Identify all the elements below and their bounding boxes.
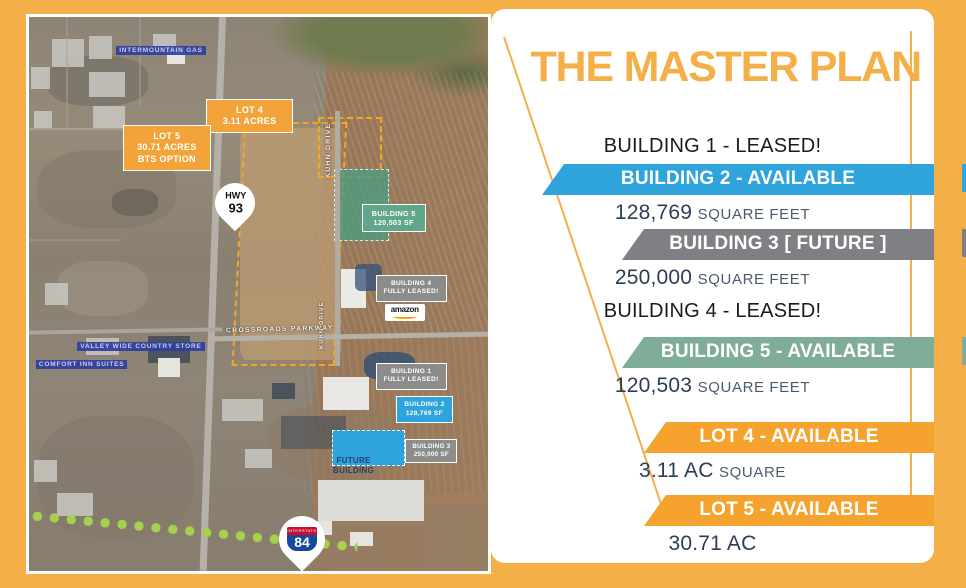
existing-building <box>34 111 52 128</box>
lot-4-number: 3.11 AC <box>639 459 714 482</box>
existing-building <box>272 383 295 400</box>
map-callout-building-5[interactable]: BUILDING 5 120,503 SF <box>362 204 426 232</box>
building-2-unit: SQUARE FEET <box>698 206 810 223</box>
building-3-size: 250,000 SQUARE FEET <box>491 260 934 294</box>
map-callout-building-2[interactable]: BUILDING 2 128,769 SF <box>396 396 452 422</box>
kuhn-drive-road <box>335 111 340 366</box>
lot-4-callout-line1: LOT 4 <box>223 105 277 116</box>
building-1-footprint[interactable] <box>323 377 369 410</box>
list-item-building-3[interactable]: BUILDING 3 [ FUTURE ] 250,000 SQUARE FEE… <box>491 229 934 294</box>
label-kuhn-drive-south: KUHN DRIVE <box>319 302 325 350</box>
pin-content: HWY 93 <box>224 192 245 215</box>
lot-5-size: 30.71 AC <box>491 526 934 560</box>
spacer <box>491 329 934 337</box>
building-2-size: 128,769 SQUARE FEET <box>491 195 934 229</box>
spacer <box>491 402 934 422</box>
label-kuhn-drive: KUHN DRIVE <box>325 122 332 177</box>
side-road <box>139 17 141 106</box>
lot-5-callout-line3: BTS OPTION <box>137 154 197 165</box>
existing-building <box>34 460 57 482</box>
existing-building <box>89 72 126 97</box>
aerial-site-map[interactable]: INTERMOUNTAIN GAS VALLEY WIDE COUNTRY ST… <box>26 14 491 574</box>
building-1-callout-line1: BUILDING 1 <box>384 368 439 376</box>
page-title: THE MASTER PLAN <box>521 43 921 92</box>
lot-5-status-bar[interactable]: LOT 5 - AVAILABLE <box>644 495 934 526</box>
building-1-label: BUILDING 1 - LEASED! <box>491 129 934 164</box>
building-5-callout-line1: BUILDING 5 <box>372 209 416 218</box>
availability-list: BUILDING 1 - LEASED! BUILDING 2 - AVAILA… <box>491 129 934 560</box>
master-plan-panel: THE MASTER PLAN BUILDING 1 - LEASED! BUI… <box>491 9 934 563</box>
map-callout-building-4[interactable]: BUILDING 4 FULLY LEASED! <box>376 275 447 301</box>
pin-content: INTERSTATE 84 <box>285 525 319 553</box>
list-item-building-2[interactable]: BUILDING 2 - AVAILABLE 128,769 SQUARE FE… <box>491 164 934 229</box>
building-5-unit: SQUARE FEET <box>698 379 810 396</box>
edge-accent-block <box>962 337 966 365</box>
edge-accent-block <box>962 229 966 257</box>
building-2-number: 128,769 <box>615 201 692 224</box>
map-callout-lot-5[interactable]: LOT 5 30.71 ACRES BTS OPTION <box>123 125 211 171</box>
interstate-shield-icon: INTERSTATE 84 <box>285 525 319 553</box>
terrain-patch <box>57 261 149 316</box>
lot-5-number: 30.71 AC <box>669 532 757 555</box>
list-item-building-5[interactable]: BUILDING 5 - AVAILABLE 120,503 SQUARE FE… <box>491 337 934 402</box>
building-3-unit: SQUARE FEET <box>698 271 810 288</box>
spacer <box>491 487 934 495</box>
building-1-callout-line2: FULLY LEASED! <box>384 376 439 384</box>
existing-building <box>89 36 112 58</box>
building-5-size: 120,503 SQUARE FEET <box>491 368 934 402</box>
edge-accent-block <box>962 369 966 417</box>
amazon-logo: amazon <box>385 304 425 321</box>
building-5-callout-line2: 120,503 SF <box>372 218 416 227</box>
interstate-number: 84 <box>294 535 310 551</box>
building-3-number: 250,000 <box>615 266 692 289</box>
lot-4-size: 3.11 AC SQUARE <box>491 453 934 487</box>
label-valley-wide-country-store: VALLEY WIDE COUNTRY STORE <box>77 342 204 351</box>
map-callout-building-3[interactable]: BUILDING 3 250,000 SF <box>405 439 457 463</box>
edge-accent-block <box>962 196 966 230</box>
hwy-label: HWY <box>224 192 245 201</box>
edge-accent-block <box>962 164 966 192</box>
edge-accent-block <box>962 261 966 331</box>
building-3-callout-line2: 250,000 SF <box>412 451 450 459</box>
edge-accent-block <box>962 454 966 490</box>
existing-building <box>245 449 273 468</box>
future-building-line1: FUTURE <box>333 456 374 466</box>
building-4-callout-line1: BUILDING 4 <box>384 280 439 288</box>
edge-accent-block <box>962 422 966 450</box>
building-3-status-bar[interactable]: BUILDING 3 [ FUTURE ] <box>622 229 934 260</box>
list-item-building-4[interactable]: BUILDING 4 - LEASED! <box>491 294 934 329</box>
building-3-callout-line1: BUILDING 3 <box>412 443 450 451</box>
existing-building <box>222 399 263 421</box>
building-2-callout-line1: BUILDING 2 <box>404 401 444 409</box>
lot-5-callout-line1: LOT 5 <box>137 131 197 142</box>
lot-4-unit: SQUARE <box>719 464 786 481</box>
list-item-building-1[interactable]: BUILDING 1 - LEASED! <box>491 129 934 164</box>
existing-building <box>158 358 181 377</box>
lot-5-callout-line2: 30.71 ACRES <box>137 142 197 153</box>
side-road <box>66 17 68 128</box>
list-item-lot-4[interactable]: LOT 4 - AVAILABLE 3.11 AC SQUARE <box>491 422 934 487</box>
lot-4-callout-line2: 3.11 ACRES <box>223 116 277 127</box>
building-4-callout-line2: FULLY LEASED! <box>384 288 439 296</box>
map-callout-lot-4[interactable]: LOT 4 3.11 ACRES <box>206 99 294 134</box>
future-building-line2: BUILDING <box>333 466 374 476</box>
side-road <box>29 239 121 241</box>
building-5-number: 120,503 <box>615 374 692 397</box>
edge-accent-block <box>962 495 966 523</box>
edge-accent-block <box>962 527 966 571</box>
existing-building <box>31 67 49 89</box>
building-3-footprint[interactable] <box>318 480 424 522</box>
label-comfort-inn-suites: COMFORT INN SUITES <box>36 360 128 369</box>
existing-building <box>45 283 68 305</box>
label-intermountain-gas: INTERMOUNTAIN GAS <box>116 46 206 55</box>
existing-building <box>52 39 84 67</box>
existing-building <box>93 106 125 128</box>
map-callout-building-1[interactable]: BUILDING 1 FULLY LEASED! <box>376 363 447 389</box>
building-2-status-bar[interactable]: BUILDING 2 - AVAILABLE <box>542 164 934 195</box>
lot-4-status-bar[interactable]: LOT 4 - AVAILABLE <box>644 422 934 453</box>
map-canvas[interactable]: INTERMOUNTAIN GAS VALLEY WIDE COUNTRY ST… <box>29 17 488 571</box>
building-4-label: BUILDING 4 - LEASED! <box>491 294 934 329</box>
edge-accent-block <box>962 19 966 149</box>
map-label-future-building: FUTURE BUILDING <box>325 452 382 480</box>
list-item-lot-5[interactable]: LOT 5 - AVAILABLE 30.71 AC <box>491 495 934 560</box>
interstate-word: INTERSTATE <box>287 527 317 535</box>
hwy-number: 93 <box>224 202 245 215</box>
building-2-callout-line2: 128,769 SF <box>404 410 444 418</box>
terrain-patch <box>112 189 158 217</box>
building-5-status-bar[interactable]: BUILDING 5 - AVAILABLE <box>622 337 934 368</box>
